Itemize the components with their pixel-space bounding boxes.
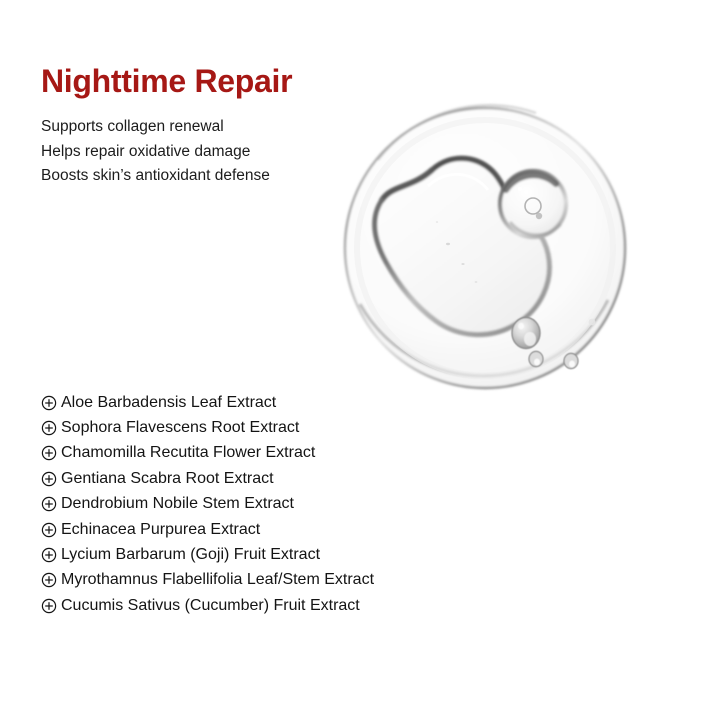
list-item: Aloe Barbadensis Leaf Extract: [41, 390, 481, 415]
product-benefit-panel: Nighttime Repair Supports collagen renew…: [0, 0, 720, 720]
circled-plus-icon: [41, 445, 61, 461]
circled-plus-icon: [41, 395, 61, 411]
ingredient-name: Dendrobium Nobile Stem Extract: [61, 496, 294, 512]
circled-plus-icon: [41, 572, 61, 588]
ingredient-name: Cucumis Sativus (Cucumber) Fruit Extract: [61, 598, 360, 614]
circled-plus-icon: [41, 547, 61, 563]
circled-plus-icon: [41, 522, 61, 538]
ingredient-name: Gentiana Scabra Root Extract: [61, 471, 274, 487]
benefit-line: Helps repair oxidative damage: [41, 140, 371, 165]
list-item: Cucumis Sativus (Cucumber) Fruit Extract: [41, 593, 481, 618]
circled-plus-icon: [41, 420, 61, 436]
ingredient-name: Aloe Barbadensis Leaf Extract: [61, 395, 276, 411]
benefit-line: Boosts skin’s antioxidant defense: [41, 164, 371, 189]
page-title: Nighttime Repair: [41, 64, 292, 99]
ingredient-list: Aloe Barbadensis Leaf Extract Sophora Fl…: [41, 390, 481, 619]
ingredient-name: Myrothamnus Flabellifolia Leaf/Stem Extr…: [61, 572, 374, 588]
circled-plus-icon: [41, 496, 61, 512]
ingredient-name: Chamomilla Recutita Flower Extract: [61, 445, 315, 461]
gel-droplet-image: [340, 94, 636, 404]
circled-plus-icon: [41, 598, 61, 614]
circled-plus-icon: [41, 471, 61, 487]
list-item: Dendrobium Nobile Stem Extract: [41, 492, 481, 517]
ingredient-name: Echinacea Purpurea Extract: [61, 522, 260, 538]
benefit-list: Supports collagen renewal Helps repair o…: [41, 115, 371, 189]
list-item: Chamomilla Recutita Flower Extract: [41, 441, 481, 466]
list-item: Echinacea Purpurea Extract: [41, 517, 481, 542]
benefit-line: Supports collagen renewal: [41, 115, 371, 140]
ingredient-name: Sophora Flavescens Root Extract: [61, 420, 299, 436]
list-item: Myrothamnus Flabellifolia Leaf/Stem Extr…: [41, 568, 481, 593]
list-item: Sophora Flavescens Root Extract: [41, 415, 481, 440]
list-item: Lycium Barbarum (Goji) Fruit Extract: [41, 542, 481, 567]
ingredient-name: Lycium Barbarum (Goji) Fruit Extract: [61, 547, 320, 563]
list-item: Gentiana Scabra Root Extract: [41, 466, 481, 491]
